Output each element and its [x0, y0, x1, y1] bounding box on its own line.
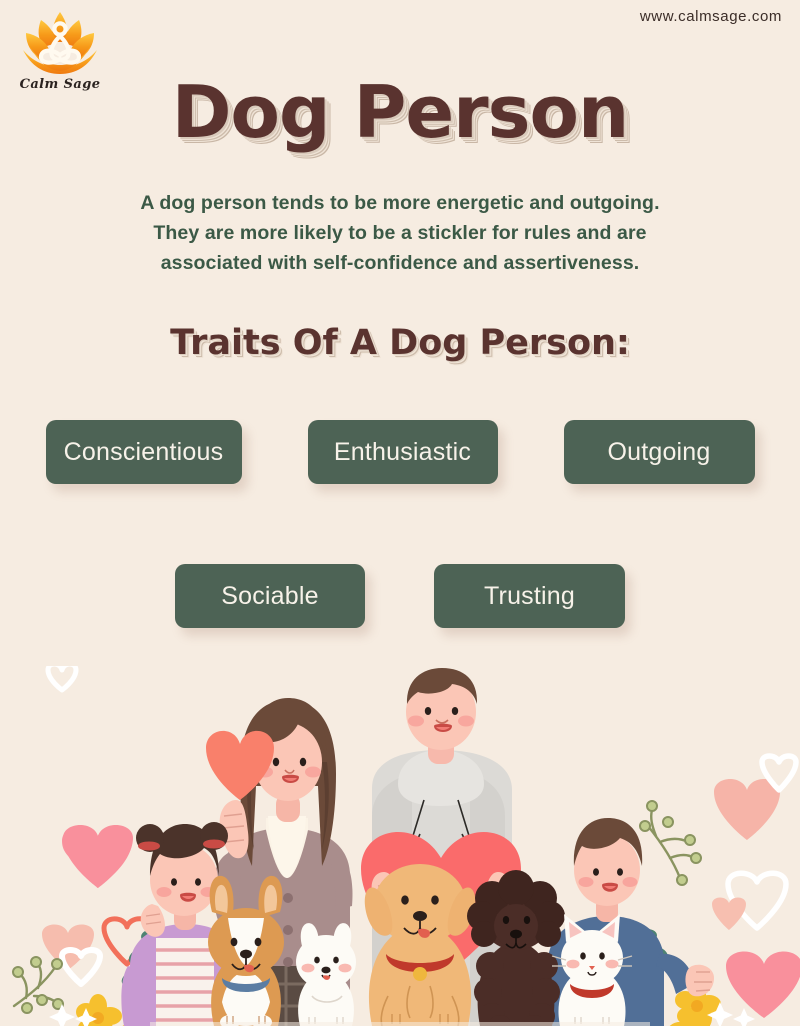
pet-white-spitz-dog [296, 923, 356, 1026]
traits-list: Conscientious Enthusiastic Outgoing Soci… [0, 420, 800, 640]
trait-chip-outgoing[interactable]: Outgoing [564, 420, 755, 484]
traits-row-1: Conscientious Enthusiastic Outgoing [0, 420, 800, 484]
site-url: www.calmsage.com [640, 8, 782, 25]
lotus-meditation-icon [8, 10, 112, 76]
infographic-page: Calm Sage www.calmsage.com Dog Person A … [0, 0, 800, 1026]
description-line-3: associated with self-confidence and asse… [70, 248, 730, 278]
page-title: Dog Person [172, 76, 629, 148]
description-text: A dog person tends to be more energetic … [0, 188, 800, 278]
traits-heading-container: Traits Of A Dog Person: [0, 323, 800, 363]
family-pets-illustration [0, 666, 800, 1026]
description-line-1: A dog person tends to be more energetic … [70, 188, 730, 218]
trait-chip-trusting[interactable]: Trusting [434, 564, 625, 628]
page-title-container: Dog Person [0, 76, 800, 148]
trait-chip-enthusiastic[interactable]: Enthusiastic [308, 420, 498, 484]
traits-heading: Traits Of A Dog Person: [170, 323, 630, 363]
description-line-2: They are more likely to be a stickler fo… [70, 218, 730, 248]
traits-row-2: Sociable Trusting [0, 564, 800, 628]
trait-chip-conscientious[interactable]: Conscientious [46, 420, 242, 484]
trait-chip-sociable[interactable]: Sociable [175, 564, 365, 628]
